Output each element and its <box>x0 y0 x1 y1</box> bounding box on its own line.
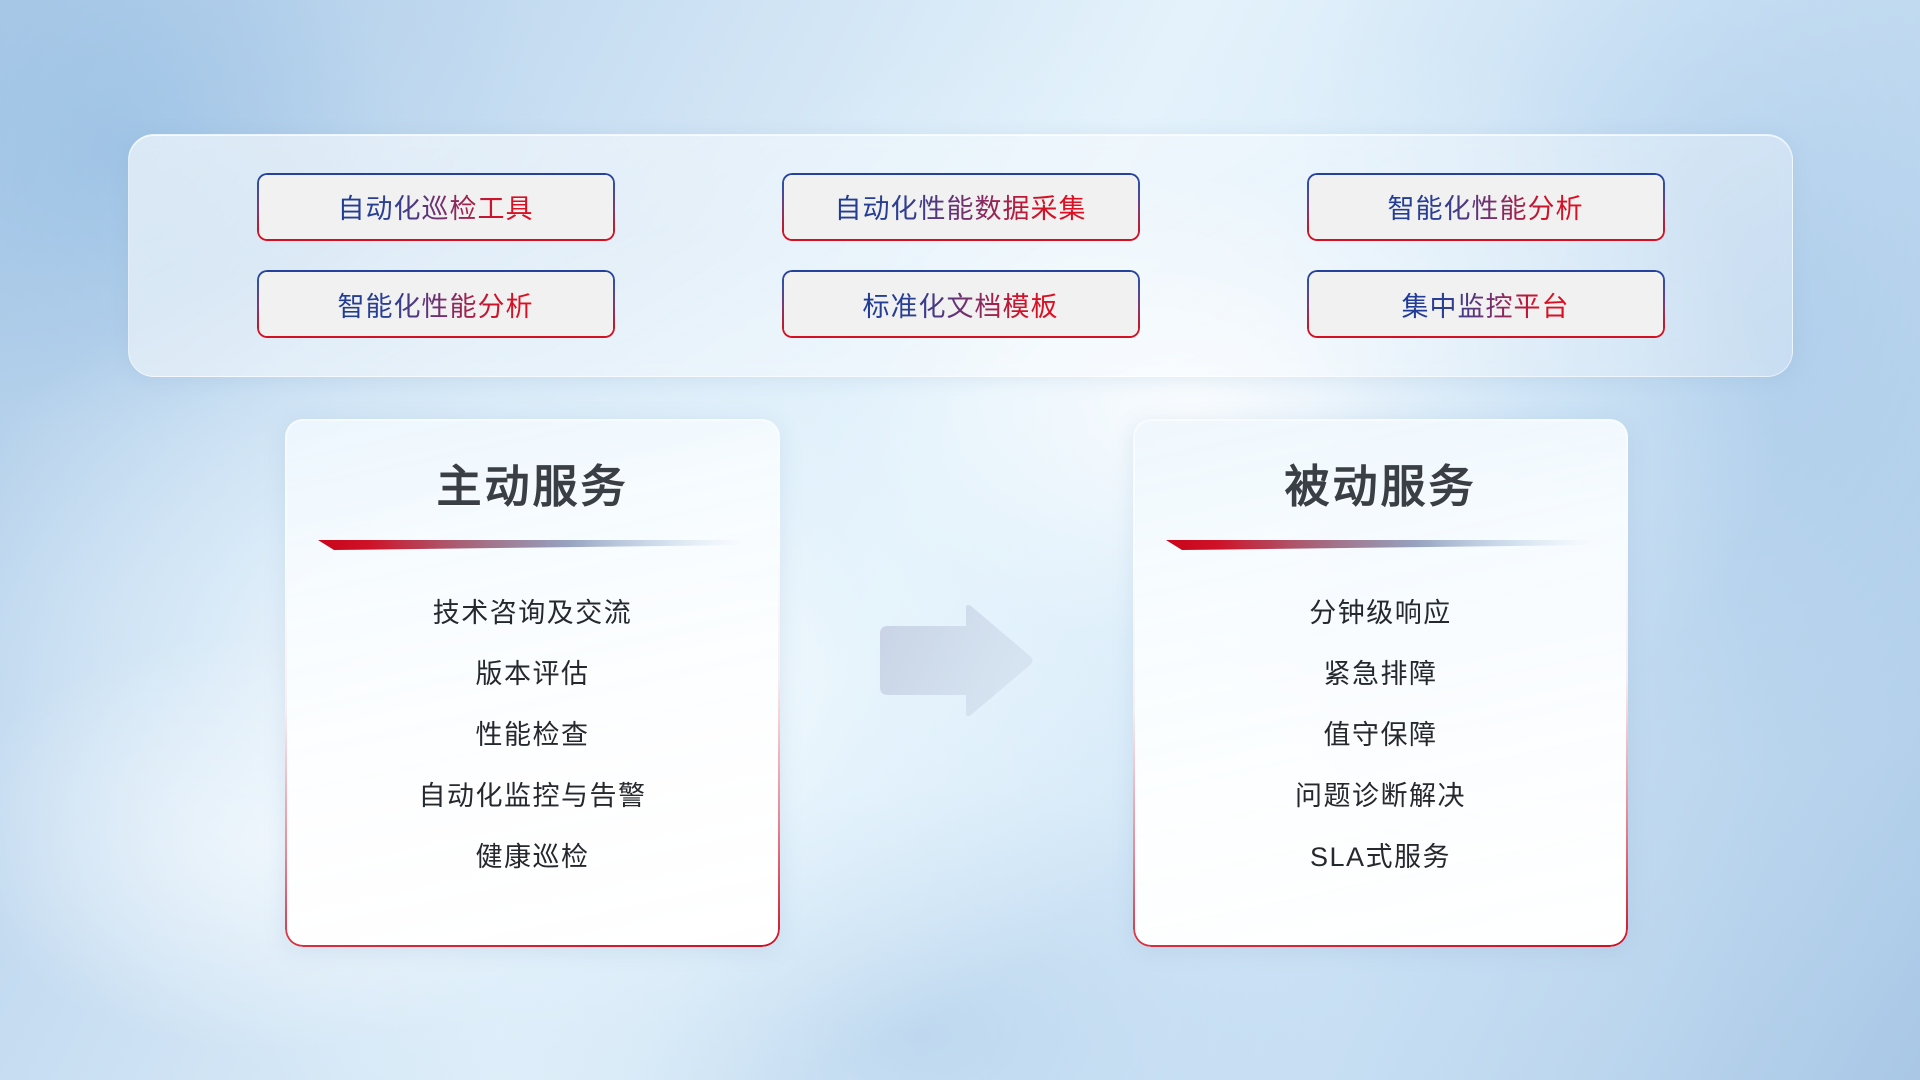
service-card-list: 技术咨询及交流 版本评估 性能检查 自动化监控与告警 健康巡检 <box>285 583 780 888</box>
service-card-passive: 被动服务 分钟级响应 紧急排障 值守保障 <box>1133 419 1628 947</box>
right-arrow-icon <box>870 603 1035 718</box>
capability-chip-surface: 标准化文档模板 <box>784 272 1138 336</box>
capability-chip-label: 智能化性能分析 <box>338 285 534 324</box>
list-item: 健康巡检 <box>476 827 590 888</box>
title-divider-wedge <box>1166 537 1596 553</box>
service-card-body: 主动服务 技术咨询及交流 版本评估 性能检查 <box>285 419 780 947</box>
capability-chip-surface: 自动化巡检工具 <box>259 175 613 239</box>
capability-chip-surface: 自动化性能数据采集 <box>784 175 1138 239</box>
service-card-body: 被动服务 分钟级响应 紧急排障 值守保障 <box>1133 419 1628 947</box>
list-item: 版本评估 <box>476 644 590 705</box>
capability-chip[interactable]: 集中监控平台 <box>1307 270 1665 338</box>
capability-chip-label: 自动化巡检工具 <box>338 187 534 226</box>
capability-chip-label: 自动化性能数据采集 <box>835 187 1087 226</box>
service-card-active: 主动服务 技术咨询及交流 版本评估 性能检查 <box>285 419 780 947</box>
list-item: 紧急排障 <box>1324 644 1438 705</box>
list-item: 技术咨询及交流 <box>433 583 633 644</box>
capability-chip-surface: 智能化性能分析 <box>1309 175 1663 239</box>
capability-chip-label: 集中监控平台 <box>1402 285 1570 324</box>
capability-chip[interactable]: 自动化性能数据采集 <box>782 173 1140 241</box>
flow-arrow <box>870 603 1035 718</box>
capability-chip-surface: 集中监控平台 <box>1309 272 1663 336</box>
list-item: SLA式服务 <box>1310 827 1451 888</box>
capability-chip-label: 标准化文档模板 <box>863 285 1059 324</box>
service-card-title: 主动服务 <box>285 450 780 515</box>
capability-chip-grid: 自动化巡检工具 自动化性能数据采集 智能化性能分析 智能化性能分析 标准化文档模… <box>129 135 1792 376</box>
capability-chip[interactable]: 智能化性能分析 <box>257 270 615 338</box>
title-divider <box>318 537 748 553</box>
capability-chip[interactable]: 自动化巡检工具 <box>257 173 615 241</box>
list-item: 性能检查 <box>476 705 590 766</box>
capability-chip[interactable]: 智能化性能分析 <box>1307 173 1665 241</box>
list-item: 自动化监控与告警 <box>419 766 647 827</box>
title-divider <box>1166 537 1596 553</box>
capability-chip-label: 智能化性能分析 <box>1388 187 1584 226</box>
capability-chip-surface: 智能化性能分析 <box>259 272 613 336</box>
service-card-title: 被动服务 <box>1133 450 1628 515</box>
list-item: 值守保障 <box>1324 705 1438 766</box>
service-card-list: 分钟级响应 紧急排障 值守保障 问题诊断解决 SLA式服务 <box>1133 583 1628 888</box>
list-item: 问题诊断解决 <box>1295 766 1466 827</box>
capabilities-panel: 自动化巡检工具 自动化性能数据采集 智能化性能分析 智能化性能分析 标准化文档模… <box>128 134 1793 377</box>
title-divider-wedge <box>318 537 748 553</box>
list-item: 分钟级响应 <box>1309 583 1452 644</box>
capability-chip[interactable]: 标准化文档模板 <box>782 270 1140 338</box>
